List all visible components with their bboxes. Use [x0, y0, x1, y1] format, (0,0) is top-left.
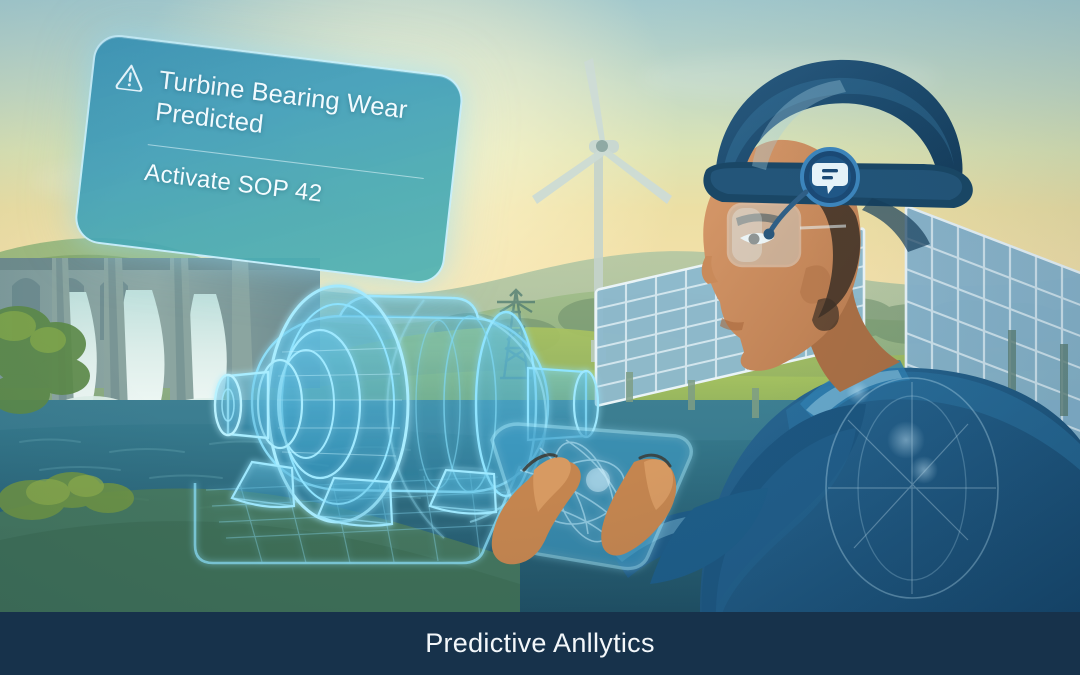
- alert-title: Turbine Bearing Wear Predicted: [154, 64, 414, 159]
- alert-action-label[interactable]: Activate SOP 42: [143, 159, 426, 221]
- warning-triangle-icon: [113, 61, 146, 97]
- alert-panel[interactable]: Turbine Bearing Wear Predicted Activate …: [73, 32, 466, 286]
- caption-bar: Predictive Anllytics: [0, 612, 1080, 675]
- scene-root: Turbine Bearing Wear Predicted Activate …: [0, 0, 1080, 675]
- caption-label: Predictive Anllytics: [425, 628, 655, 659]
